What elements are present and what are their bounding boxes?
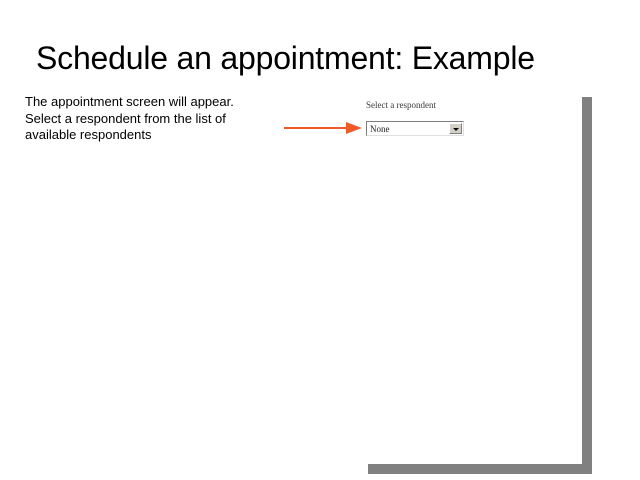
dropdown-toggle-button[interactable]: [449, 123, 462, 134]
chevron-down-icon: [453, 128, 459, 131]
respondent-field-label: Select a respondent: [366, 100, 436, 110]
slide-title: Schedule an appointment: Example: [36, 38, 616, 78]
panel-shadow-right: [582, 97, 592, 474]
panel-shadow-bottom: [368, 464, 592, 474]
respondent-dropdown-value: None: [370, 123, 390, 135]
respondent-dropdown[interactable]: None: [366, 121, 464, 136]
right-arrow-icon: [284, 120, 364, 136]
annotation-arrow: [284, 120, 364, 136]
slide-body-text: The appointment screen will appear. Sele…: [25, 94, 253, 144]
slide-canvas: Schedule an appointment: Example The app…: [0, 0, 640, 480]
